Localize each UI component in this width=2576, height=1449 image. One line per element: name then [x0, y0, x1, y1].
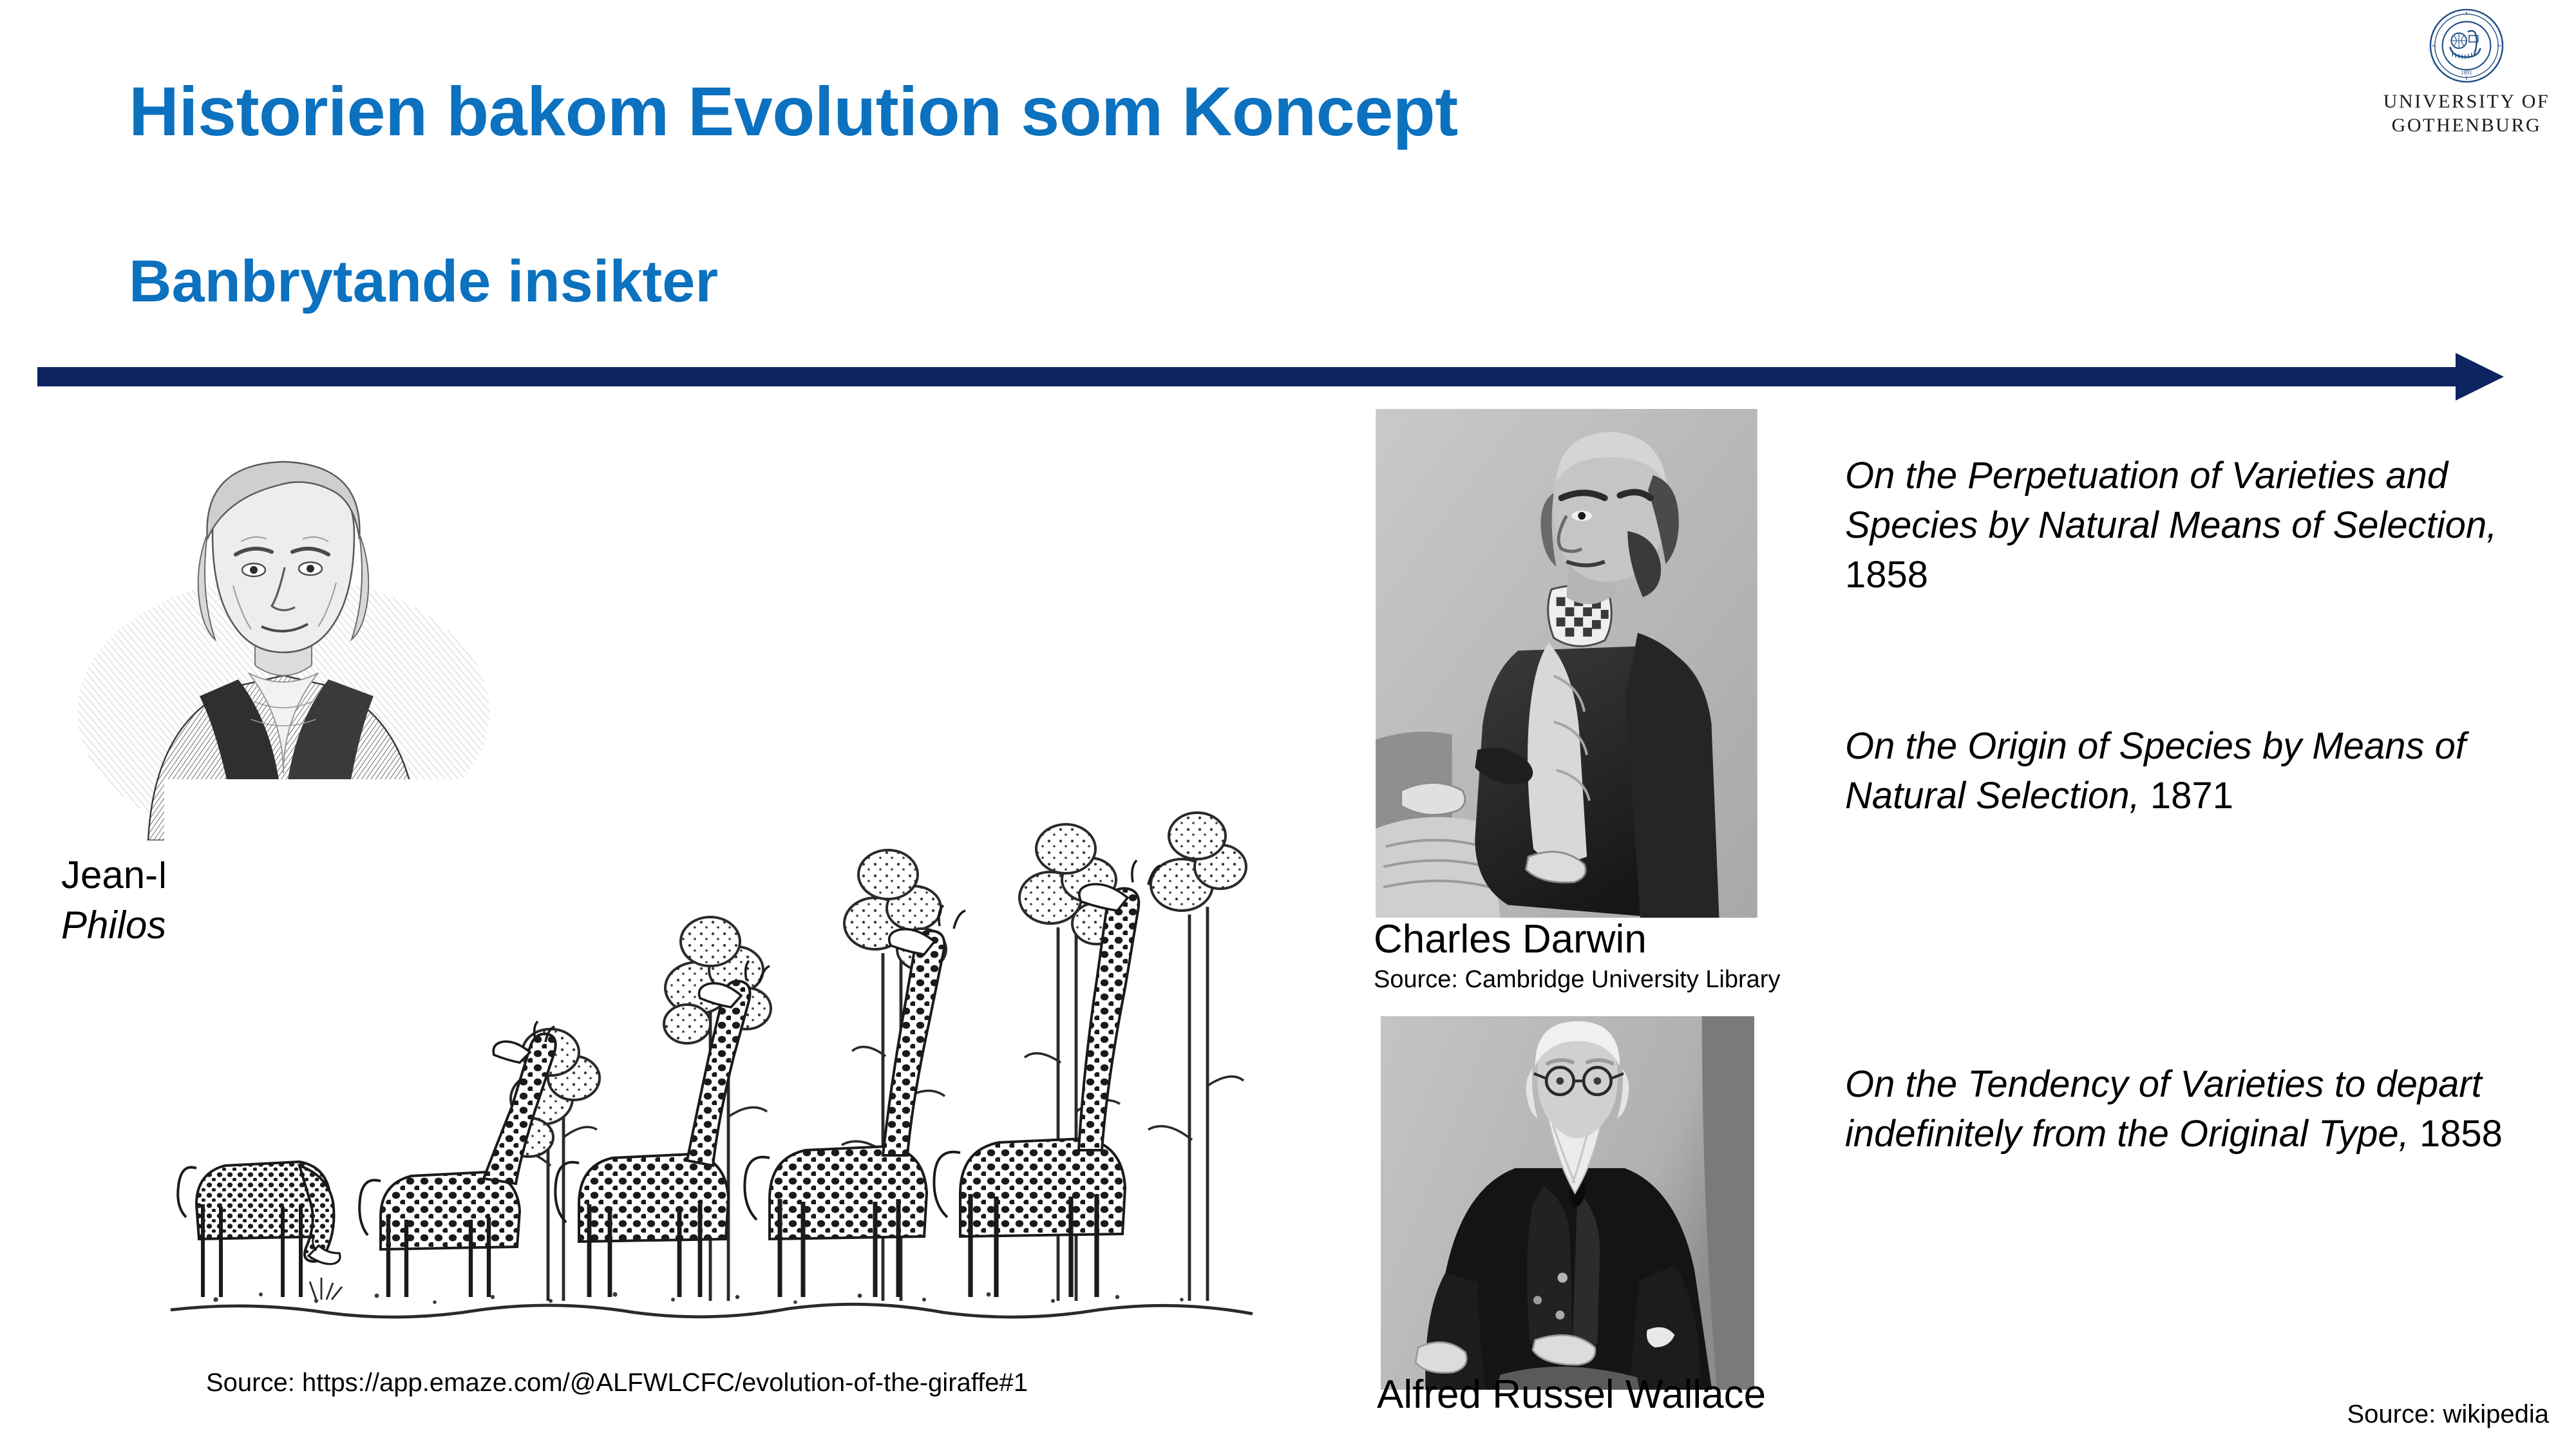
charles-darwin-photo [1375, 409, 1758, 918]
wikipedia-source-caption: Source: wikipedia [2347, 1400, 2550, 1429]
giraffe-source-caption: Source: https://app.emaze.com/@ALFWLCFC/… [206, 1368, 1028, 1397]
wallace-name-label: Alfred Russel Wallace [1377, 1372, 1766, 1417]
university-logo: 1891 UNIVERSITY OF GOTHENBURG [2370, 8, 2563, 137]
darwin-work-2: On the Origin of Species by Means of Nat… [1845, 721, 2528, 820]
wallace-work-1: On the Tendency of Varieties to depart i… [1845, 1059, 2528, 1159]
page-title: Historien bakom Evolution som Koncept [129, 71, 1458, 151]
giraffe-evolution-illustration [164, 779, 1259, 1359]
logo-wordmark: UNIVERSITY OF GOTHENBURG [2370, 90, 2563, 137]
darwin-work-2-year: 1871 [2140, 775, 2233, 817]
logo-wordmark-line2: GOTHENBURG [2370, 114, 2563, 138]
darwin-name-label: Charles Darwin [1374, 916, 1647, 962]
lamarck-portrait-image [45, 415, 522, 840]
wallace-work-1-year: 1858 [2409, 1113, 2503, 1155]
wallace-work-1-title: On the Tendency of Varieties to depart i… [1845, 1063, 2482, 1155]
university-seal-icon: 1891 [2429, 8, 2505, 84]
seal-year-text: 1891 [2461, 69, 2472, 75]
darwin-work-1-year: 1858 [1845, 554, 1928, 596]
logo-wordmark-line1: UNIVERSITY OF [2370, 90, 2563, 114]
darwin-work-1: On the Perpetuation of Varieties and Spe… [1845, 451, 2528, 600]
darwin-source-caption: Source: Cambridge University Library [1374, 966, 1780, 994]
darwin-work-1-title: On the Perpetuation of Varieties and Spe… [1845, 455, 2497, 546]
timeline-arrow-icon [37, 348, 2543, 406]
alfred-russel-wallace-photo [1378, 1016, 1757, 1390]
page-subtitle: Banbrytande insikter [129, 248, 718, 316]
